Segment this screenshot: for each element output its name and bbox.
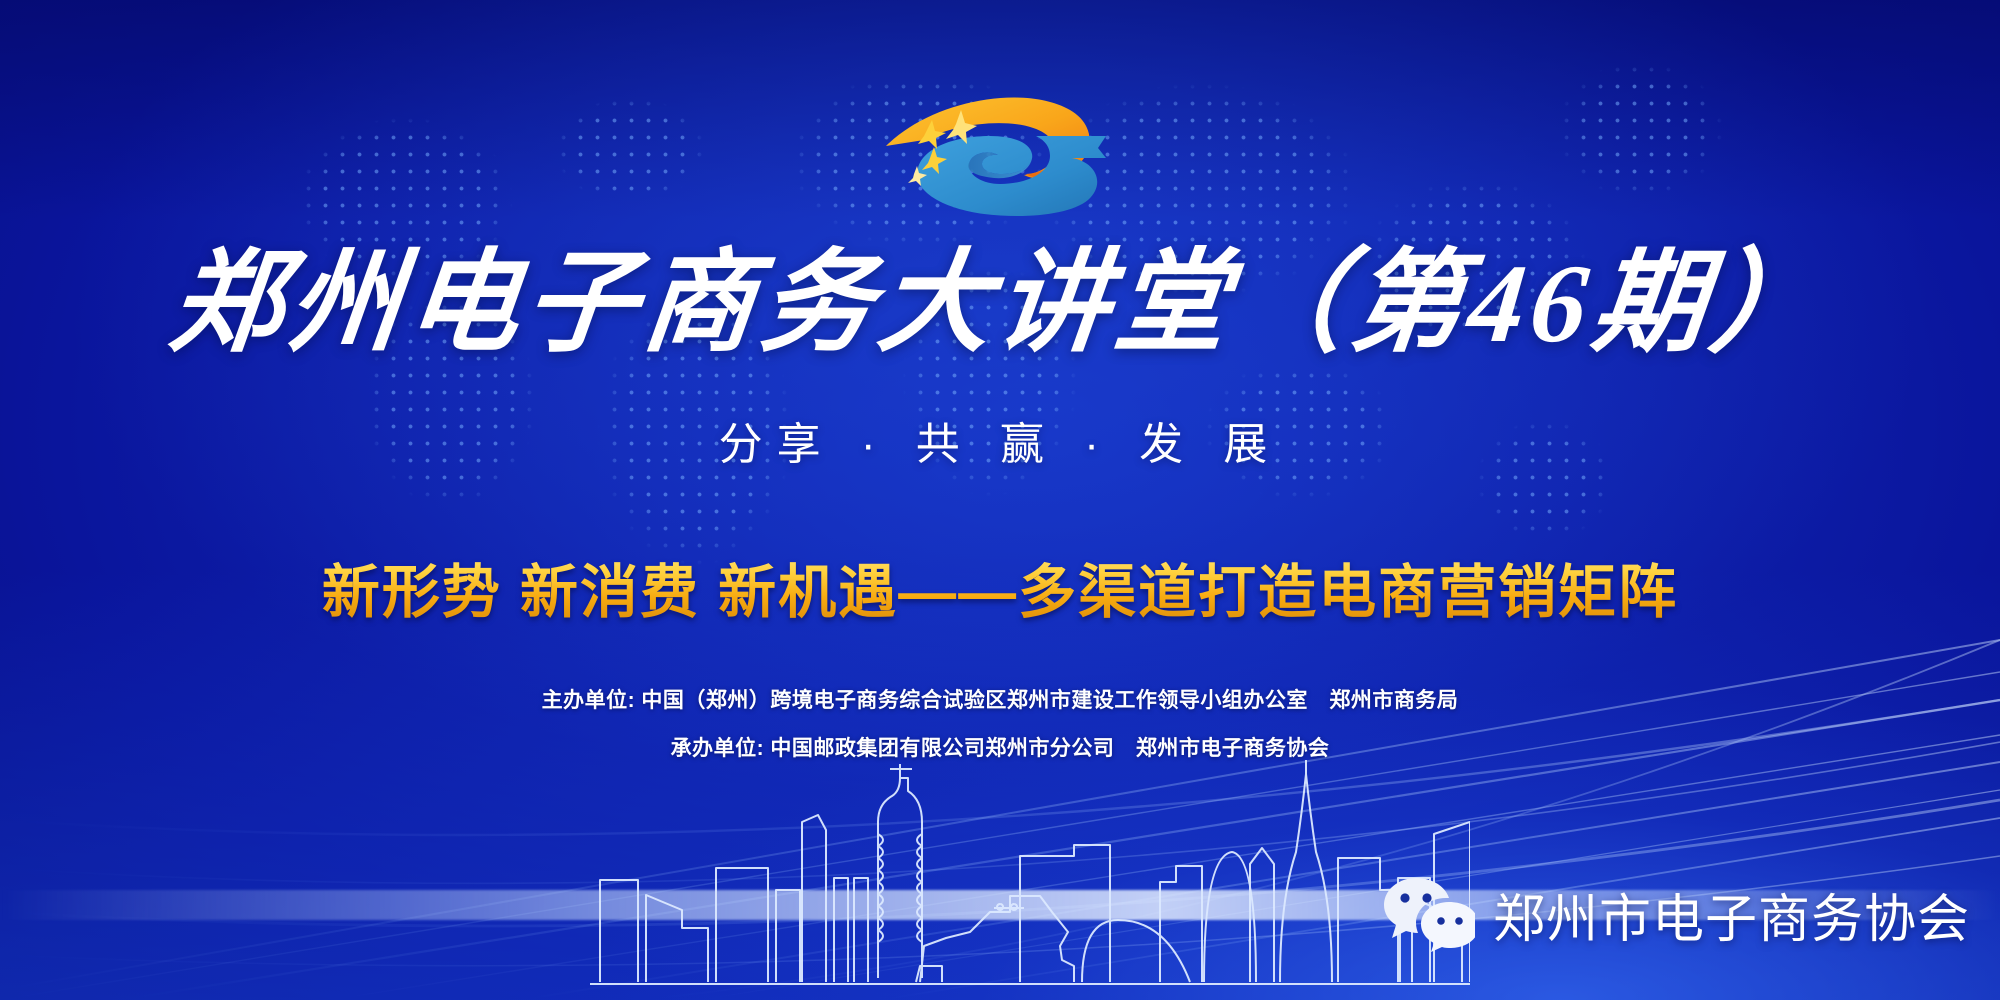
co-host-organizer-line: 承办单位: 中国邮政集团有限公司郑州市分公司 郑州市电子商务协会 <box>0 732 2000 762</box>
city-skyline-outline <box>590 760 1470 990</box>
event-banner: 郑州电子商务大讲堂（第46期） 分享 · 共 赢 · 发 展 新形势 新消费 新… <box>0 0 2000 1000</box>
theme-headline: 新形势 新消费 新机遇——多渠道打造电商营销矩阵 <box>0 545 2000 629</box>
page-title: 郑州电子商务大讲堂（第46期） <box>0 248 2000 360</box>
wechat-badge[interactable]: 郑州市电子商务协会 <box>1383 876 1970 952</box>
zhengzhou-ecommerce-logo <box>874 88 1124 218</box>
wechat-account-label: 郑州市电子商务协会 <box>1493 877 1970 952</box>
wechat-icon <box>1383 876 1475 952</box>
subtitle: 分享 · 共 赢 · 发 展 <box>0 408 2000 472</box>
host-organizer-line: 主办单位: 中国（郑州）跨境电子商务综合试验区郑州市建设工作领导小组办公室 郑州… <box>0 684 2000 714</box>
